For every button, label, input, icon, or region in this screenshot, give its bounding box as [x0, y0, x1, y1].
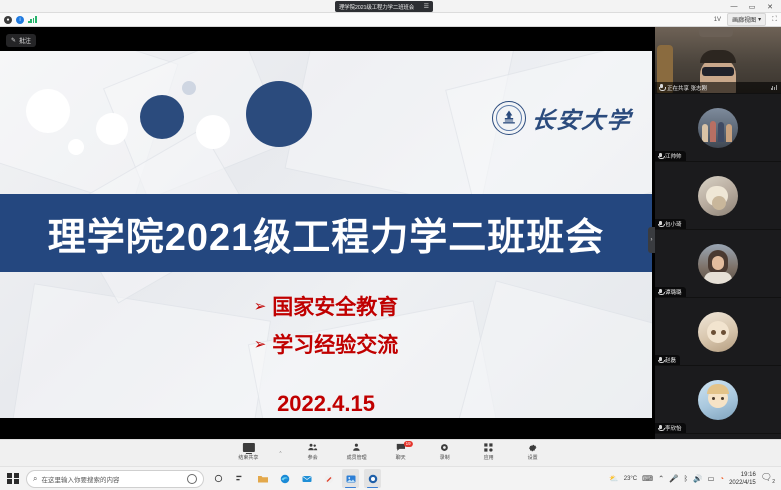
control-label: 聊天: [396, 454, 406, 461]
apps-icon: [483, 442, 494, 453]
pen-icon: ✎: [11, 37, 16, 44]
control-label: 结束共享: [238, 454, 258, 461]
gear-icon: [527, 442, 538, 453]
slide-title-band: 理学院2021级工程力学二班班会: [0, 194, 652, 272]
participant-name-badge: 谭璐璐: [655, 287, 686, 297]
explorer-icon[interactable]: [254, 469, 271, 488]
view-mode-label: 画廊视图: [732, 15, 756, 24]
panel-collapse-handle[interactable]: ›: [648, 227, 655, 253]
control-label: 成员管理: [347, 454, 367, 461]
control-label: 参会: [308, 454, 318, 461]
paint-icon[interactable]: [320, 469, 337, 488]
network-icon[interactable]: ▭: [707, 474, 714, 483]
slide-date: 2022.4.15: [0, 391, 652, 417]
presentation-slide[interactable]: 长安大学 理学院2021级工程力学二班班会 ➢ 国家安全教育 ➢ 学习经验交流 …: [0, 51, 652, 418]
settings-button[interactable]: 设置: [519, 442, 547, 461]
windows-logo-icon: [7, 473, 18, 484]
slide-bullet-2: ➢ 学习经验交流: [254, 329, 399, 359]
mic-icon[interactable]: [658, 221, 663, 228]
chat-unread-badge: 19: [404, 441, 413, 447]
meeting-controls: 结束共享 ⌃ 参会 成员管理 19 聊天: [234, 442, 546, 461]
search-input[interactable]: ⌕ 在这里输入你要搜索的内容: [26, 470, 204, 488]
partly-cloudy-icon[interactable]: ⛅: [609, 474, 618, 483]
window-controls: — ▭ ✕: [725, 0, 779, 13]
shield-icon: ●: [4, 16, 12, 24]
photos-icon[interactable]: [342, 469, 359, 488]
participant-name: 谭璐璐: [665, 288, 682, 296]
manage-members-button[interactable]: 成员管理: [343, 442, 371, 461]
minimize-button[interactable]: —: [725, 0, 743, 13]
shared-screen-stage: ✎ 批注: [0, 27, 655, 439]
meeting-icon[interactable]: [364, 469, 381, 488]
slide-bullet-1: ➢ 国家安全教育: [254, 291, 399, 321]
participant-tile-self[interactable]: 正在共享 张志刚: [655, 27, 781, 94]
audio-level-icon: [771, 85, 777, 90]
avatar: [698, 312, 738, 352]
clock-time: 19:16: [741, 471, 756, 479]
control-label: 应用: [484, 454, 494, 461]
meeting-toolbar: 腾讯会议 my文件夹 结束共享 ⌃ 参会: [0, 439, 781, 466]
record-icon: [439, 442, 450, 453]
participant-name: 赵磊: [665, 356, 676, 364]
notification-icon[interactable]: 🗨2: [761, 472, 775, 485]
chevron-down-icon: ▾: [758, 16, 761, 23]
participant-name: 李欣怡: [665, 424, 682, 432]
mic-icon[interactable]: [659, 84, 664, 91]
avatar: [698, 176, 738, 216]
meeting-title-pill[interactable]: 理学院2021级工程力学二班班会 ☰: [335, 1, 433, 12]
notification-count: 2: [772, 479, 775, 485]
chevron-up-icon[interactable]: ⌃: [658, 474, 664, 483]
mail-icon[interactable]: [298, 469, 315, 488]
clock[interactable]: 19:16 2022/4/15: [729, 471, 756, 487]
record-button[interactable]: 录制: [431, 442, 459, 461]
mic-icon[interactable]: [658, 289, 663, 296]
sogou-tray-icon[interactable]: ◔: [720, 474, 725, 483]
close-button[interactable]: ✕: [761, 0, 779, 13]
slide-title: 理学院2021级工程力学二班班会: [48, 206, 605, 261]
header-status-icons: ● i: [4, 16, 37, 24]
info-icon[interactable]: i: [16, 16, 24, 24]
avatar: [698, 244, 738, 284]
avatar: [698, 380, 738, 420]
bullet-arrow-icon: ➢: [254, 335, 267, 353]
edge-icon[interactable]: [276, 469, 293, 488]
participant-strip[interactable]: 正在共享 张志刚 江帅帅: [655, 27, 781, 439]
bluetooth-icon[interactable]: ᛒ: [684, 474, 689, 483]
annotate-label: 批注: [19, 36, 31, 45]
header-right-controls: 1V 画廊视图 ▾ ⛶: [714, 13, 777, 26]
taskbar-apps: [210, 469, 381, 488]
participant-name-badge: 包小琦: [655, 219, 686, 229]
participants-button[interactable]: 参会: [299, 442, 327, 461]
self-tile-indicators: [771, 85, 777, 90]
windows-taskbar: ⌕ 在这里输入你要搜索的内容: [0, 466, 781, 490]
system-tray: ⛅ 23°C ⌨ ⌃ 🎤 ᛒ 🔊 ▭ ◔ 19:16 2022/4/15 🗨2: [609, 471, 778, 487]
search-placeholder: 在这里输入你要搜索的内容: [41, 474, 119, 484]
participant-name: 江帅帅: [665, 152, 682, 160]
annotate-button[interactable]: ✎ 批注: [6, 34, 36, 47]
fullscreen-icon[interactable]: ⛶: [772, 16, 777, 24]
task-view-icon[interactable]: [210, 469, 227, 488]
keyboard-icon[interactable]: ⌨: [642, 474, 653, 483]
share-options-caret-icon[interactable]: ⌃: [278, 451, 282, 457]
participants-icon: [307, 442, 318, 453]
bullet-text: 国家安全教育: [272, 291, 398, 321]
weather-temp: 23°C: [624, 476, 637, 482]
mic-tray-icon[interactable]: 🎤: [669, 474, 678, 483]
clock-date: 2022/4/15: [729, 479, 756, 487]
participant-name-badge: 李欣怡: [655, 423, 686, 433]
bullet-arrow-icon: ➢: [254, 297, 267, 315]
chat-button[interactable]: 19 聊天: [387, 442, 415, 461]
avatar: [698, 108, 738, 148]
participant-tile[interactable]: 包小琦: [655, 162, 781, 230]
volume-icon[interactable]: 🔊: [693, 474, 702, 483]
mic-icon[interactable]: [658, 357, 663, 364]
window-title-bar: 理学院2021级工程力学二班班会 ☰ — ▭ ✕: [0, 0, 781, 13]
self-tile-name-bar: 正在共享 张志刚: [655, 82, 781, 93]
slide-bullets: ➢ 国家安全教育 ➢ 学习经验交流: [0, 291, 652, 359]
app-header: ● i 1V 画廊视图 ▾ ⛶: [0, 13, 781, 27]
search-icon: ⌕: [33, 474, 37, 484]
control-label: 录制: [440, 454, 450, 461]
participant-name: 正在共享 张志刚: [667, 84, 707, 92]
participant-tile[interactable]: 赵磊: [655, 298, 781, 366]
apps-button[interactable]: 应用: [475, 442, 503, 461]
participant-name-badge: 江帅帅: [655, 151, 686, 161]
network-label: 1V: [714, 17, 721, 23]
raise-hand-icon: [351, 442, 362, 453]
view-mode-chip[interactable]: 画廊视图 ▾: [727, 13, 766, 26]
start-button[interactable]: [3, 469, 23, 489]
end-share-button[interactable]: 结束共享: [234, 442, 262, 461]
participant-tile[interactable]: 谭璐璐: [655, 230, 781, 298]
participant-name-badge: 赵磊: [655, 355, 680, 365]
mic-icon[interactable]: [658, 425, 663, 432]
widgets-icon[interactable]: [232, 469, 249, 488]
screen-share-icon: [242, 442, 254, 453]
meeting-title: 理学院2021级工程力学二班班会: [339, 3, 414, 11]
screen-root: 理学院2021级工程力学二班班会 ☰ — ▭ ✕ ● i 1V 画廊视图 ▾ ⛶…: [0, 0, 781, 490]
university-logo: 长安大学: [492, 101, 632, 135]
university-name: 长安大学: [530, 101, 634, 135]
cortana-circle-icon[interactable]: [187, 474, 197, 484]
participant-tile[interactable]: 江帅帅: [655, 94, 781, 162]
maximize-button[interactable]: ▭: [743, 0, 761, 13]
mic-icon[interactable]: [658, 153, 663, 160]
hamburger-icon[interactable]: ☰: [424, 3, 429, 10]
university-seal-icon: [492, 101, 526, 135]
signal-icon: [28, 16, 37, 23]
bullet-text: 学习经验交流: [272, 329, 398, 359]
participant-name: 包小琦: [665, 220, 682, 228]
participant-tile[interactable]: 李欣怡: [655, 366, 781, 434]
control-label: 设置: [528, 454, 538, 461]
